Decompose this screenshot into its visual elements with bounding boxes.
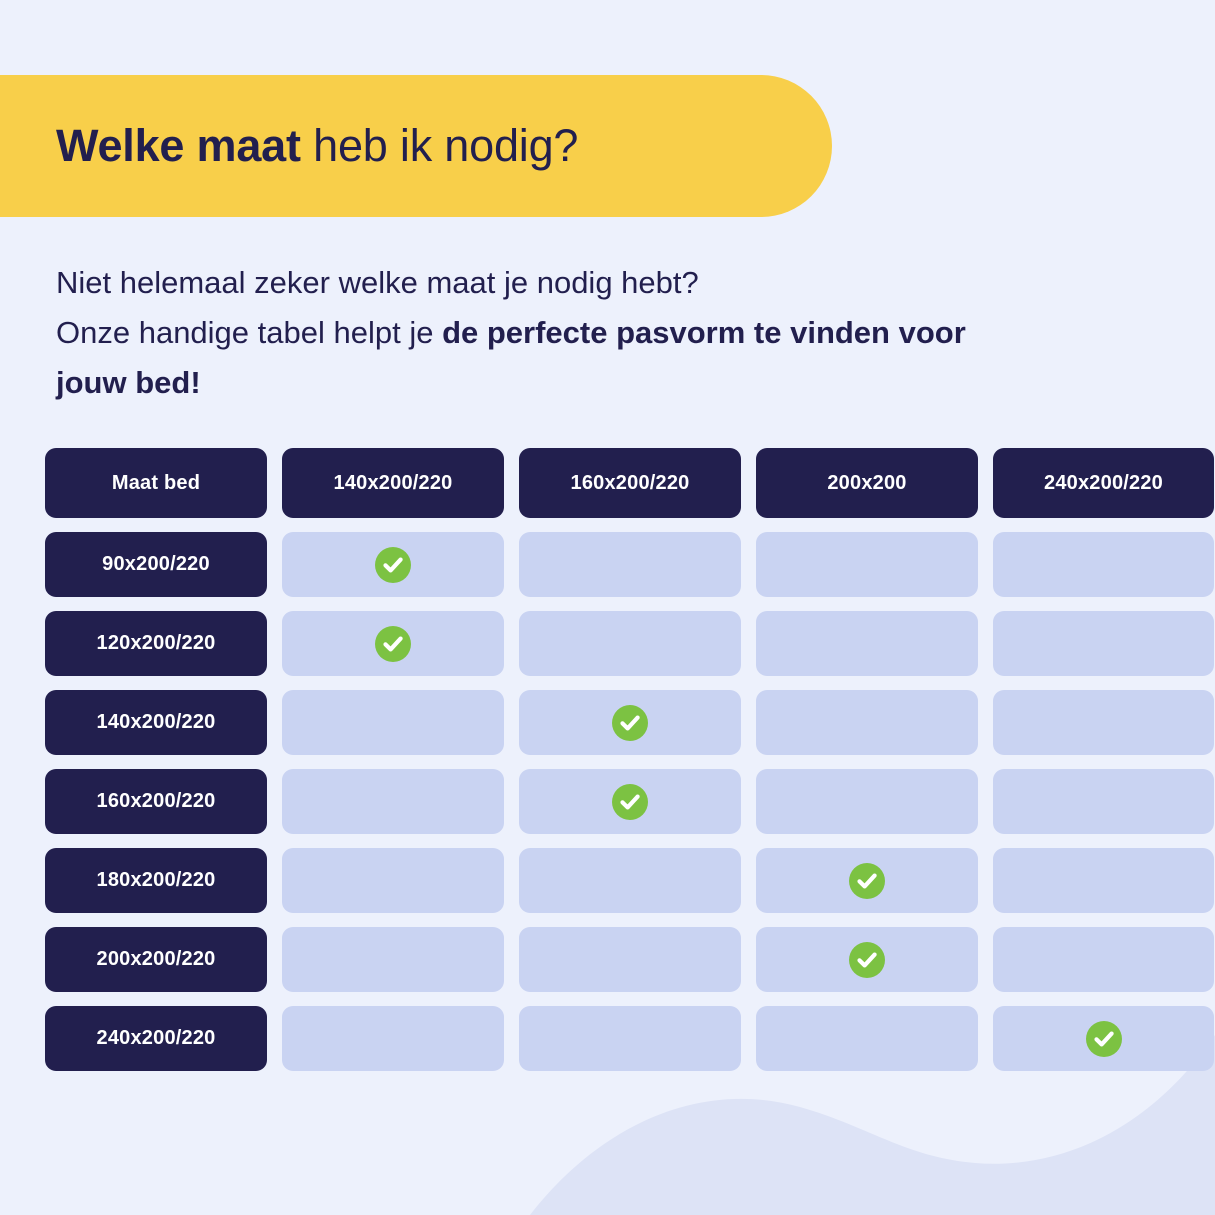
- table-cell[interactable]: [756, 611, 978, 676]
- intro-line-2: Onze handige tabel helpt je de perfecte …: [56, 308, 1016, 408]
- intro-paragraph: Niet helemaal zeker welke maat je nodig …: [56, 258, 1016, 409]
- table-row: 240x200/220: [45, 1006, 1170, 1071]
- table-row: 90x200/220: [45, 532, 1170, 597]
- intro-line-1: Niet helemaal zeker welke maat je nodig …: [56, 258, 1016, 308]
- table-row: 180x200/220: [45, 848, 1170, 913]
- check-circle-icon: [375, 547, 411, 583]
- table-cell[interactable]: [756, 532, 978, 597]
- table-cell[interactable]: [993, 1006, 1214, 1071]
- table-cell[interactable]: [756, 690, 978, 755]
- row-label: 240x200/220: [45, 1006, 267, 1071]
- table-cell[interactable]: [519, 927, 741, 992]
- check-circle-icon: [612, 705, 648, 741]
- row-label: 200x200/220: [45, 927, 267, 992]
- row-label: 120x200/220: [45, 611, 267, 676]
- row-label: 180x200/220: [45, 848, 267, 913]
- table-cell[interactable]: [282, 690, 504, 755]
- table-cell[interactable]: [756, 927, 978, 992]
- column-header-maat-bed: Maat bed: [45, 448, 267, 518]
- column-header-140x200-220: 140x200/220: [282, 448, 504, 518]
- table-cell[interactable]: [993, 848, 1214, 913]
- table-cell[interactable]: [282, 927, 504, 992]
- table-cell[interactable]: [756, 769, 978, 834]
- table-cell[interactable]: [756, 848, 978, 913]
- table-row: 200x200/220: [45, 927, 1170, 992]
- table-cell[interactable]: [519, 690, 741, 755]
- page-root: Welke maat heb ik nodig? Niet helemaal z…: [0, 0, 1215, 1215]
- table-cell[interactable]: [282, 769, 504, 834]
- page-title: Welke maat heb ik nodig?: [56, 122, 578, 169]
- check-circle-icon: [1086, 1021, 1122, 1057]
- page-title-light: heb ik nodig?: [301, 120, 578, 171]
- column-header-160x200-220: 160x200/220: [519, 448, 741, 518]
- table-cell[interactable]: [993, 927, 1214, 992]
- check-circle-icon: [612, 784, 648, 820]
- table-cell[interactable]: [282, 1006, 504, 1071]
- row-label: 160x200/220: [45, 769, 267, 834]
- table-row: 120x200/220: [45, 611, 1170, 676]
- check-circle-icon: [849, 863, 885, 899]
- table-cell[interactable]: [519, 848, 741, 913]
- table-body: 90x200/220120x200/220140x200/220160x200/…: [45, 532, 1170, 1071]
- table-cell[interactable]: [993, 769, 1214, 834]
- row-label: 140x200/220: [45, 690, 267, 755]
- column-header-200x200: 200x200: [756, 448, 978, 518]
- table-cell[interactable]: [993, 611, 1214, 676]
- table-cell[interactable]: [519, 532, 741, 597]
- column-header-240x200-220: 240x200/220: [993, 448, 1214, 518]
- table-cell[interactable]: [282, 611, 504, 676]
- check-circle-icon: [849, 942, 885, 978]
- table-cell[interactable]: [756, 1006, 978, 1071]
- table-header-row: Maat bed 140x200/220 160x200/220 200x200…: [45, 448, 1170, 518]
- size-compatibility-table: Maat bed 140x200/220 160x200/220 200x200…: [45, 448, 1170, 1071]
- table-cell[interactable]: [519, 611, 741, 676]
- table-cell[interactable]: [282, 532, 504, 597]
- intro-line-2-plain: Onze handige tabel helpt je: [56, 315, 442, 350]
- table-cell[interactable]: [282, 848, 504, 913]
- table-cell[interactable]: [519, 1006, 741, 1071]
- table-row: 140x200/220: [45, 690, 1170, 755]
- row-label: 90x200/220: [45, 532, 267, 597]
- table-cell[interactable]: [519, 769, 741, 834]
- table-row: 160x200/220: [45, 769, 1170, 834]
- title-banner: Welke maat heb ik nodig?: [0, 75, 832, 217]
- table-cell[interactable]: [993, 690, 1214, 755]
- page-title-strong: Welke maat: [56, 120, 301, 171]
- table-cell[interactable]: [993, 532, 1214, 597]
- check-circle-icon: [375, 626, 411, 662]
